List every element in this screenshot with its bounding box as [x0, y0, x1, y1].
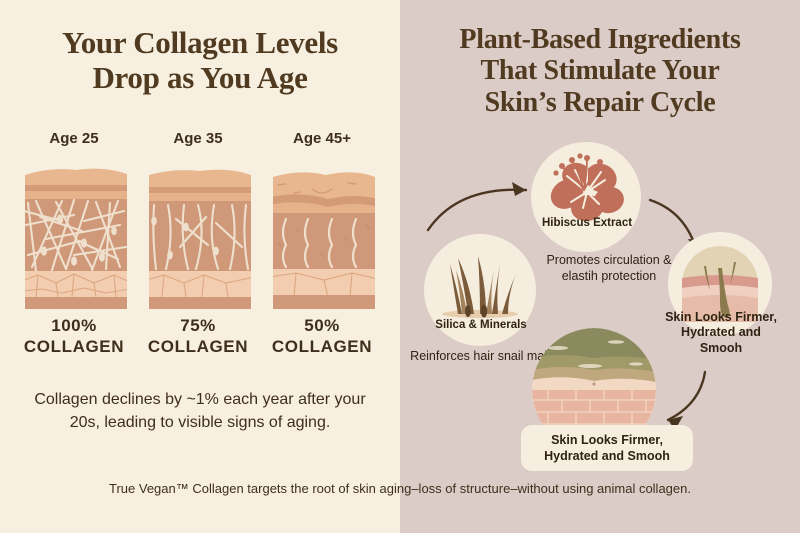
left-title-line-1: Your Collagen Levels: [18, 26, 382, 61]
skin-cross-section-age-35: [146, 163, 254, 313]
node-label-silica: Silica & Minerals: [434, 318, 528, 332]
percent-value-35: 75%: [132, 315, 264, 336]
left-panel-title: Your Collagen Levels Drop as You Age: [18, 26, 382, 95]
right-title-line-2: That Stimulate Your: [412, 55, 788, 86]
age-label-45: Age 45+: [262, 130, 382, 147]
node-label-firmer: Skin Looks Firmer, Hydrated and Smooh: [660, 310, 782, 356]
infographic-root: Your Collagen Levels Drop as You Age Age…: [0, 0, 800, 533]
percent-value-25: 100%: [8, 315, 140, 336]
age-label-25: Age 25: [14, 130, 134, 147]
skin-cross-section-age-25: [22, 163, 130, 313]
right-panel-title: Plant-Based Ingredients That Stimulate Y…: [412, 24, 788, 118]
age-label-35: Age 35: [138, 130, 258, 147]
collagen-decline-note: Collagen declines by ~1% each year after…: [28, 388, 372, 434]
collagen-percent-age-45: 50% COLLAGEN: [256, 315, 388, 358]
right-title-line-1: Plant-Based Ingredients: [412, 24, 788, 55]
node-sublabel-silica: Reinforces hair snail mail: [410, 348, 550, 364]
left-title-line-2: Drop as You Age: [18, 61, 382, 96]
collagen-percent-age-35: 75% COLLAGEN: [132, 315, 264, 358]
cycle-center-text: Promotes circulation & elastih protectio…: [541, 252, 677, 285]
footer-text: True Vegan™ Collagen targets the root of…: [0, 481, 800, 496]
right-title-line-3: Skin’s Repair Cycle: [412, 87, 788, 118]
percent-unit-25: COLLAGEN: [8, 336, 140, 357]
hibiscus-flower-icon: [531, 142, 641, 252]
node-label-hibiscus: Hibiscus Extract: [541, 216, 633, 230]
percent-unit-45: COLLAGEN: [256, 336, 388, 357]
skin-cross-section-age-45: [270, 163, 378, 313]
node-bubble-hibiscus[interactable]: [531, 142, 641, 252]
percent-value-45: 50%: [256, 315, 388, 336]
node-label-skin-barrier: Skin Looks Firmer, Hydrated and Smooh: [521, 425, 693, 471]
collagen-percent-age-25: 100% COLLAGEN: [8, 315, 140, 358]
percent-unit-35: COLLAGEN: [132, 336, 264, 357]
